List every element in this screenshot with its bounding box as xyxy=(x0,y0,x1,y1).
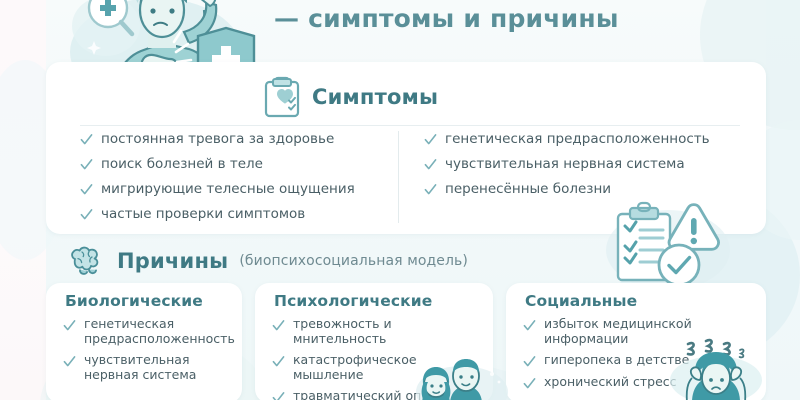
list-item: генетическая предрасположенность xyxy=(424,131,724,147)
check-icon xyxy=(63,355,76,368)
causes-subheading: (биопсихосоциальная модель) xyxy=(239,253,468,269)
causes-column-biological: Биологические генетическая предрасположе… xyxy=(46,283,242,400)
check-icon xyxy=(80,158,93,171)
symptoms-column-left: постоянная тревога за здоровье поиск бол… xyxy=(80,131,390,231)
list-item-label: генетическая предрасположенность xyxy=(84,317,235,346)
list-item-label: хронический стресс xyxy=(544,375,677,390)
list-item: мигрирующие телесные ощущения xyxy=(80,181,390,197)
causes-column-list: генетическая предрасположенность чувстви… xyxy=(63,317,234,389)
symptoms-heading: Симптомы xyxy=(312,85,438,109)
causes-column-title: Психологические xyxy=(274,292,432,310)
check-icon xyxy=(272,319,285,332)
causes-column-title: Биологические xyxy=(65,292,203,310)
list-item-label: чувствительная нервная система xyxy=(84,353,234,382)
symptoms-column-right: генетическая предрасположенность чувстви… xyxy=(424,131,724,206)
stressed-woman-illustration xyxy=(668,338,764,400)
list-item-label: тревожность и мнительность xyxy=(293,317,485,346)
symptoms-divider xyxy=(80,125,740,126)
list-item: чувствительная нервная система xyxy=(63,353,234,382)
check-icon xyxy=(80,183,93,196)
brain-icon xyxy=(68,246,106,276)
list-item-label: перенесённые болезни xyxy=(445,181,611,197)
infographic-page: — симптомы и причины xyxy=(0,0,800,400)
list-item-label: частые проверки симптомов xyxy=(101,206,305,222)
list-item-label: постоянная тревога за здоровье xyxy=(101,131,334,147)
symptoms-column-divider xyxy=(398,131,399,223)
page-title: — симптомы и причины xyxy=(274,4,704,34)
check-icon xyxy=(63,319,76,332)
couple-illustration xyxy=(406,358,510,400)
clipboard-heart-icon xyxy=(264,76,300,118)
list-item: постоянная тревога за здоровье xyxy=(80,131,390,147)
check-icon xyxy=(523,355,536,368)
list-item: перенесённые болезни xyxy=(424,181,724,197)
list-item: генетическая предрасположенность xyxy=(63,317,234,346)
causes-heading: Причины xyxy=(117,249,228,273)
check-icon xyxy=(523,377,536,390)
check-icon xyxy=(272,391,285,400)
list-item-label: мигрирующие телесные ощущения xyxy=(101,181,355,197)
symptoms-header: Симптомы xyxy=(264,76,438,118)
check-icon xyxy=(272,355,285,368)
causes-header: Причины (биопсихосоциальная модель) xyxy=(68,244,468,278)
list-item: тревожность и мнительность xyxy=(272,317,485,346)
list-item-label: чувствительная нервная система xyxy=(445,156,685,172)
check-icon xyxy=(523,319,536,332)
check-icon xyxy=(424,158,437,171)
list-item-label: генетическая предрасположенность xyxy=(445,131,710,147)
check-icon xyxy=(80,208,93,221)
checklist-warning-approved-icon xyxy=(604,200,732,292)
list-item: чувствительная нервная система xyxy=(424,156,724,172)
list-item: частые проверки симптомов xyxy=(80,206,390,222)
check-icon xyxy=(80,133,93,146)
check-icon xyxy=(424,133,437,146)
check-icon xyxy=(424,183,437,196)
list-item-label: поиск болезней в теле xyxy=(101,156,263,172)
list-item: поиск болезней в теле xyxy=(80,156,390,172)
causes-column-title: Социальные xyxy=(525,292,637,310)
